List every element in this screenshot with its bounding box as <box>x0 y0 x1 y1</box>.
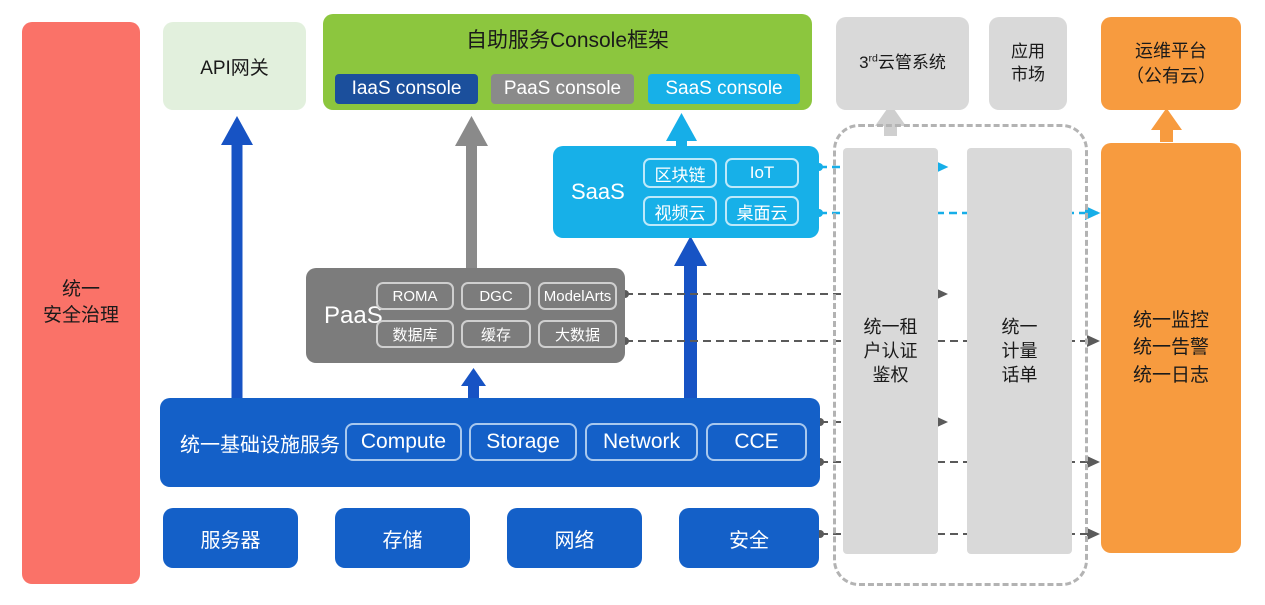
saas-console-label: SaaS console <box>665 78 782 100</box>
third-party-label: 3rd云管系统 <box>859 52 946 74</box>
metering-col-line-2: 计量 <box>1002 339 1038 363</box>
api-gateway-label: API网关 <box>200 53 269 80</box>
auth-col-line-3: 鉴权 <box>873 363 909 387</box>
paas-chip-database-label: 数据库 <box>392 324 437 345</box>
arrow-infra-to-api-gateway <box>221 116 253 400</box>
paas-chip-database[interactable]: 数据库 <box>376 320 454 348</box>
arrow-paas-to-console <box>455 116 488 270</box>
self-service-console-framework[interactable]: 自助服务Console框架 IaaS console PaaS console … <box>323 14 812 110</box>
iaas-console-label: IaaS console <box>352 78 462 100</box>
infra-chip-storage[interactable]: Storage <box>469 423 577 461</box>
saas-chip-iot-label: IoT <box>750 163 775 183</box>
paas-chip-roma[interactable]: ROMA <box>376 282 454 310</box>
unified-security-governance[interactable]: 统一 安全治理 <box>22 22 140 584</box>
saas-layer-label: SaaS <box>571 179 625 205</box>
saas-chip-desktop-cloud-label: 桌面云 <box>737 199 788 224</box>
arrow-infra-to-paas <box>461 368 486 400</box>
paas-layer-label: PaaS <box>324 302 383 330</box>
paas-chip-dgc[interactable]: DGC <box>461 282 531 310</box>
infra-chip-network[interactable]: Network <box>585 423 698 461</box>
paas-chip-cache-label: 缓存 <box>481 324 511 345</box>
third-party-suffix: 云管系统 <box>878 53 946 72</box>
metering-col-line-1: 统一 <box>1002 315 1038 339</box>
saas-console-chip[interactable]: SaaS console <box>648 74 800 104</box>
paas-chip-modelarts[interactable]: ModelArts <box>538 282 617 310</box>
saas-chip-video-cloud-label: 视频云 <box>655 199 706 224</box>
infra-chip-compute-label: Compute <box>361 430 446 454</box>
arrow-infra-to-saas <box>674 236 707 400</box>
paas-console-label: PaaS console <box>504 78 621 100</box>
ops-col-line-1: 统一监控 <box>1133 307 1209 335</box>
hardware-storage-label: 存储 <box>383 524 423 553</box>
auth-col-line-1: 统一租 <box>864 315 918 339</box>
third-party-sup: rd <box>869 53 878 65</box>
saas-chip-video-cloud[interactable]: 视频云 <box>643 196 717 226</box>
infra-chip-storage-label: Storage <box>486 430 560 454</box>
paas-layer-box[interactable]: PaaS ROMA DGC ModelArts 数据库 缓存 大数据 <box>306 268 625 363</box>
third-party-prefix: 3 <box>859 53 868 72</box>
paas-chip-bigdata[interactable]: 大数据 <box>538 320 617 348</box>
saas-chip-desktop-cloud[interactable]: 桌面云 <box>725 196 799 226</box>
app-market-box[interactable]: 应用 市场 <box>989 17 1067 110</box>
iaas-console-chip[interactable]: IaaS console <box>335 74 478 104</box>
saas-layer-box[interactable]: SaaS 区块链 IoT 视频云 桌面云 <box>553 146 819 238</box>
unified-metering-column[interactable]: 统一 计量 话单 <box>967 148 1072 554</box>
infra-chip-compute[interactable]: Compute <box>345 423 462 461</box>
infra-chip-cce[interactable]: CCE <box>706 423 807 461</box>
app-market-line-2: 市场 <box>1011 64 1045 86</box>
hardware-box-server[interactable]: 服务器 <box>163 508 298 568</box>
hardware-box-storage[interactable]: 存储 <box>335 508 470 568</box>
ops-platform-line-2: （公有云） <box>1126 64 1216 88</box>
paas-chip-modelarts-label: ModelArts <box>544 288 612 305</box>
unified-infrastructure-services-box[interactable]: 统一基础设施服务 Compute Storage Network CCE <box>160 398 820 487</box>
infra-chip-cce-label: CCE <box>734 430 778 454</box>
architecture-diagram: 统一 安全治理 API网关 自助服务Console框架 IaaS console… <box>0 0 1265 605</box>
arrow-up-to-ops-platform <box>1151 108 1182 142</box>
paas-console-chip[interactable]: PaaS console <box>491 74 634 104</box>
hardware-box-network[interactable]: 网络 <box>507 508 642 568</box>
unified-tenant-auth-column[interactable]: 统一租 户认证 鉴权 <box>843 148 938 554</box>
paas-chip-roma-label: ROMA <box>393 288 438 305</box>
unified-monitoring-column[interactable]: 统一监控 统一告警 统一日志 <box>1101 143 1241 553</box>
saas-chip-iot[interactable]: IoT <box>725 158 799 188</box>
hardware-security-label: 安全 <box>729 524 769 553</box>
ops-col-line-2: 统一告警 <box>1133 334 1209 362</box>
api-gateway-box[interactable]: API网关 <box>163 22 306 110</box>
console-framework-title: 自助服务Console框架 <box>323 24 812 54</box>
infra-chip-network-label: Network <box>603 430 680 454</box>
infra-label: 统一基础设施服务 <box>180 428 340 457</box>
security-line-1: 统一 <box>62 277 100 303</box>
hardware-network-label: 网络 <box>555 524 595 553</box>
hardware-box-security[interactable]: 安全 <box>679 508 819 568</box>
ops-platform-box[interactable]: 运维平台 （公有云） <box>1101 17 1241 110</box>
paas-chip-cache[interactable]: 缓存 <box>461 320 531 348</box>
metering-col-line-3: 话单 <box>1002 363 1038 387</box>
security-line-2: 安全治理 <box>43 303 119 329</box>
app-market-line-1: 应用 <box>1011 41 1045 63</box>
saas-chip-blockchain[interactable]: 区块链 <box>643 158 717 188</box>
ops-col-line-3: 统一日志 <box>1133 362 1209 390</box>
third-party-cloud-management-box[interactable]: 3rd云管系统 <box>836 17 969 110</box>
paas-chip-bigdata-label: 大数据 <box>555 324 600 345</box>
auth-col-line-2: 户认证 <box>864 339 918 363</box>
hardware-server-label: 服务器 <box>201 524 261 553</box>
ops-platform-line-1: 运维平台 <box>1135 39 1207 63</box>
saas-chip-blockchain-label: 区块链 <box>655 161 706 186</box>
paas-chip-dgc-label: DGC <box>479 288 512 305</box>
